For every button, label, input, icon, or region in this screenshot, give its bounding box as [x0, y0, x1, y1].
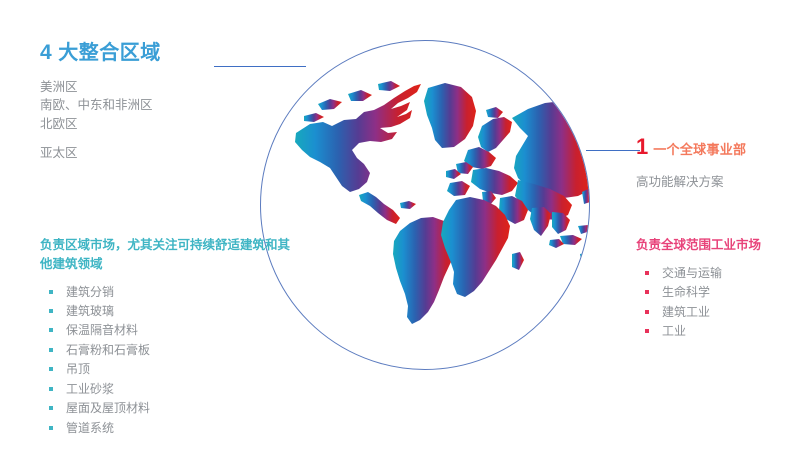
left-top-group: 4 大整合区域 美洲区 南欧、中东和非洲区 北欧区 亚太区: [40, 40, 250, 162]
right-subtitle: 高功能解决方案: [636, 171, 800, 190]
right-market-list: 交通与运输 生命科学 建筑工业 工业: [636, 264, 800, 342]
left-title-number: 4: [40, 41, 52, 64]
right-market-block: 负责全球范围工业市场 交通与运输 生命科学 建筑工业 工业: [636, 236, 800, 342]
right-top-group: 1 一个全球事业部 高功能解决方案: [636, 136, 800, 190]
list-item: 交通与运输: [636, 264, 800, 283]
list-item: 生命科学: [636, 283, 800, 302]
region-item: 南欧、中东和非洲区: [40, 96, 250, 114]
list-item: 屋面及屋顶材料: [40, 399, 290, 418]
right-title-text: 一个全球事业部: [653, 139, 746, 158]
region-list: 美洲区 南欧、中东和非洲区 北欧区 亚太区: [40, 78, 250, 162]
region-item: 北欧区: [40, 115, 250, 133]
world-globe-icon: [260, 40, 590, 370]
slide-canvas: 4 大整合区域 美洲区 南欧、中东和非洲区 北欧区 亚太区 负责区域市场，尤其关…: [0, 0, 800, 462]
list-item: 建筑分销: [40, 283, 290, 302]
left-product-list: 建筑分销 建筑玻璃 保温隔音材料 石膏粉和石膏板 吊顶 工业砂浆 屋面及屋顶材料…: [40, 283, 290, 439]
list-item: 工业砂浆: [40, 380, 290, 399]
left-title-text: 大整合区域: [58, 42, 161, 64]
left-market-block: 负责区域市场，尤其关注可持续舒适建筑和其他建筑领域 建筑分销 建筑玻璃 保温隔音…: [40, 236, 290, 438]
left-block-heading: 负责区域市场，尤其关注可持续舒适建筑和其他建筑领域: [40, 236, 290, 274]
region-item: 美洲区: [40, 78, 250, 96]
list-item: 工业: [636, 322, 800, 341]
list-item: 石膏粉和石膏板: [40, 341, 290, 360]
right-block-heading: 负责全球范围工业市场: [636, 236, 800, 255]
list-item: 建筑工业: [636, 303, 800, 322]
list-item: 建筑玻璃: [40, 302, 290, 321]
list-item: 吊顶: [40, 360, 290, 379]
globe-continents: [260, 40, 590, 370]
right-title: 1 一个全球事业部: [636, 136, 800, 158]
region-item: 亚太区: [40, 144, 250, 162]
list-item: 保温隔音材料: [40, 321, 290, 340]
connector-line-right: [586, 150, 640, 151]
list-item: 管道系统: [40, 419, 290, 438]
left-title: 4 大整合区域: [40, 40, 250, 66]
right-title-number: 1: [636, 136, 648, 158]
